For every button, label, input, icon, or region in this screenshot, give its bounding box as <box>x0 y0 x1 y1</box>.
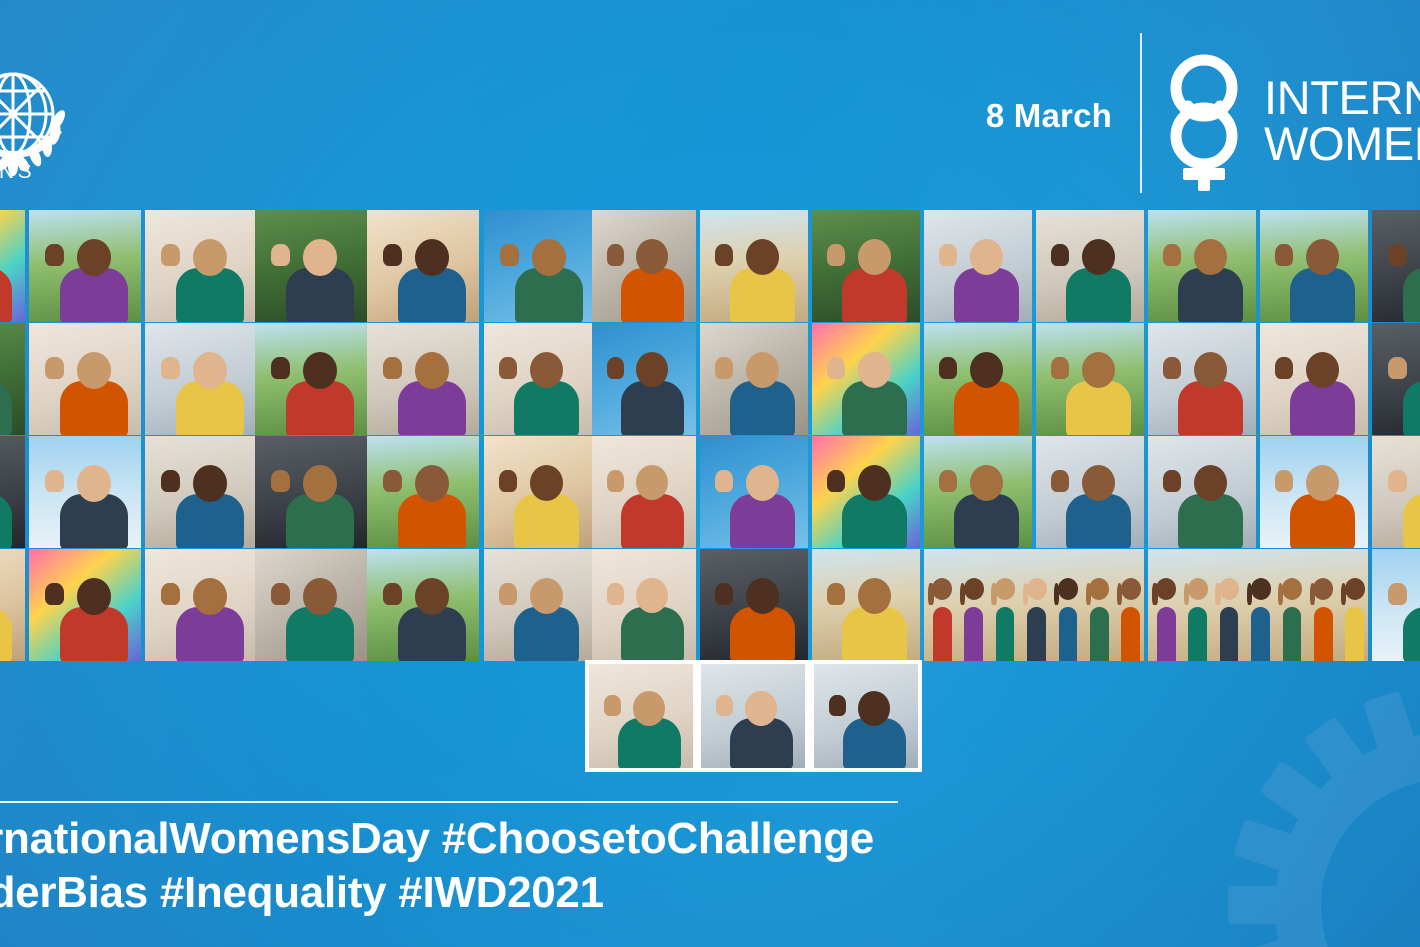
photo-image <box>1260 323 1368 435</box>
photo-un-flag-teal <box>484 210 596 322</box>
photo-image <box>812 436 920 548</box>
photo-hivis-group-small <box>812 549 920 661</box>
photo-headwrap-print <box>812 436 920 548</box>
photo-pink-top-doorway <box>29 323 141 435</box>
photo-image <box>924 210 1032 322</box>
photo-orange-top <box>1260 210 1368 322</box>
vertical-divider <box>1140 33 1142 193</box>
photo-image <box>700 210 808 322</box>
photo-smiling-interior <box>145 549 257 661</box>
photo-group-lawn <box>255 323 367 435</box>
photo-peacekeepers-plane <box>1148 549 1368 661</box>
iwd-title-line-1: INTERNATIONAL <box>1264 75 1420 121</box>
photo-green-tshirt <box>145 210 257 322</box>
photo-image <box>1036 436 1144 548</box>
photo-image <box>484 210 596 322</box>
photo-image <box>1148 436 1256 548</box>
row-2 <box>0 323 1420 436</box>
photo-image <box>1036 210 1144 322</box>
photo-image <box>1148 323 1256 435</box>
photo-image <box>700 436 808 548</box>
final-row <box>585 660 922 772</box>
photo-glasses-portrait <box>255 436 367 548</box>
photo-partial-left <box>0 323 25 435</box>
photo-khaki-lanyard <box>1036 436 1144 548</box>
photo-image <box>924 323 1032 435</box>
iwd-sunburst-watermark-icon <box>1168 648 1420 947</box>
photo-office-desk <box>924 210 1032 322</box>
photo-selfie-trees <box>1260 436 1368 548</box>
photo-curlyhair-indoor <box>367 210 479 322</box>
photo-hat-garden <box>29 210 141 322</box>
photo-striped-tee-garden <box>367 436 479 548</box>
photo-image <box>589 664 693 768</box>
photo-image <box>367 210 479 322</box>
photo-ankara-dress <box>367 323 479 435</box>
photo-yellow-lace <box>812 210 920 322</box>
photo-partial-right-3 <box>1372 436 1420 548</box>
photo-image <box>29 210 141 322</box>
photo-image <box>592 210 696 322</box>
photo-image <box>1260 210 1368 322</box>
photo-image <box>255 210 367 322</box>
photo-red-shirt-wall <box>1036 210 1144 322</box>
photo-image <box>484 323 592 435</box>
hashtag-line-1: ernationalWomensDay #ChoosetoChallenge <box>0 812 952 866</box>
photo-image <box>0 549 25 661</box>
photo-mosaic-grid <box>0 210 1420 660</box>
photo-image <box>592 436 696 548</box>
photo-mask-outdoor <box>924 323 1032 435</box>
photo-peacekeepers-heli <box>924 549 1144 661</box>
iwd-poster: ATIONS 8 March INTERNATIONAL WOMEN'S DAY <box>0 0 1420 947</box>
photo-image <box>145 436 257 548</box>
photo-red-polo-stone <box>592 210 696 322</box>
photo-print-dress-wall <box>484 549 592 661</box>
date-label: 8 March <box>986 97 1112 135</box>
photo-image <box>700 549 808 661</box>
photo-image <box>592 549 696 661</box>
photo-image <box>484 549 592 661</box>
row-1 <box>0 210 1420 323</box>
photo-couple-garden <box>924 436 1032 548</box>
photo-blazer-portrait <box>700 549 808 661</box>
photo-partial-right-1 <box>1372 210 1420 322</box>
row-3 <box>0 436 1420 549</box>
photo-purple-tshirt <box>1036 323 1144 435</box>
photo-image <box>145 549 257 661</box>
photo-image <box>812 210 920 322</box>
photo-image <box>367 323 479 435</box>
photo-mask-vehicle <box>145 323 257 435</box>
photo-image <box>0 436 25 548</box>
photo-image <box>145 210 257 322</box>
photo-image <box>0 210 25 322</box>
horizontal-rule <box>0 801 898 803</box>
hashtag-block: ernationalWomensDay #ChoosetoChallenge n… <box>0 812 952 919</box>
photo-hiker-lake <box>29 436 141 548</box>
photo-polo-outdoors <box>367 549 479 661</box>
photo-image <box>29 323 141 435</box>
photo-grey-sweater <box>1260 323 1368 435</box>
photo-un-backdrop-man <box>700 436 808 548</box>
photo-mural-denim <box>29 549 141 661</box>
iwd-title-line-2: WOMEN'S DAY <box>1264 121 1420 167</box>
photo-white-tee-wall <box>255 549 367 661</box>
photo-image <box>924 436 1032 548</box>
photo-image <box>592 323 696 435</box>
photo-fist-glasses <box>589 664 693 768</box>
photo-striped-cardigan <box>145 436 257 548</box>
photo-partial-left <box>0 549 25 661</box>
photo-black-top-door <box>592 436 696 548</box>
photo-mask-navy-polo <box>1148 436 1256 548</box>
photo-image <box>367 436 479 548</box>
un-wordmark: ATIONS <box>0 160 35 184</box>
photo-image <box>29 436 141 548</box>
photo-image <box>814 664 918 768</box>
photo-braids-colorful <box>812 323 920 435</box>
iwd-lockup: INTERNATIONAL WOMEN'S DAY <box>1158 48 1420 194</box>
photo-image <box>367 549 479 661</box>
photo-image <box>29 549 141 661</box>
photo-long-hair-indoor <box>592 549 696 661</box>
photo-hijab-stairs <box>700 323 808 435</box>
photo-image <box>812 549 920 661</box>
photo-image <box>924 549 1144 661</box>
photo-blue-shirt-door <box>484 323 592 435</box>
photo-un-emblem-backdrop <box>592 323 696 435</box>
photo-image <box>1372 549 1420 661</box>
iwd-venus-double-ring-icon <box>1158 48 1250 194</box>
photo-image <box>484 436 592 548</box>
photo-image <box>1372 210 1420 322</box>
photo-hivis-pair <box>700 210 808 322</box>
photo-image <box>1148 210 1256 322</box>
iwd-title: INTERNATIONAL WOMEN'S DAY <box>1264 75 1420 166</box>
photo-image <box>1372 323 1420 435</box>
photo-courtyard-uniform <box>1148 210 1256 322</box>
photo-image <box>1036 323 1144 435</box>
photo-partial-left <box>0 436 25 548</box>
row-4 <box>0 549 1420 662</box>
photo-tie-indoor <box>814 664 918 768</box>
photo-partial-right-4 <box>1372 549 1420 661</box>
photo-image <box>1148 549 1368 661</box>
poster-header: ATIONS 8 March INTERNATIONAL WOMEN'S DAY <box>0 0 1420 208</box>
photo-image <box>255 549 367 661</box>
photo-beige-shirt-sun <box>484 436 592 548</box>
photo-image <box>700 323 808 435</box>
photo-partial-right-2 <box>1372 323 1420 435</box>
photo-image <box>1372 436 1420 548</box>
photo-image <box>0 323 25 435</box>
photo-image <box>812 323 920 435</box>
photo-image <box>255 323 367 435</box>
photo-lanyard-teal <box>1148 323 1256 435</box>
photo-image <box>1260 436 1368 548</box>
photo-image <box>701 664 805 768</box>
photo-glasses-foliage <box>255 210 367 322</box>
hashtag-line-2: nderBias #Inequality #IWD2021 <box>0 866 952 920</box>
photo-image <box>255 436 367 548</box>
photo-suit-outdoor <box>701 664 805 768</box>
photo-image <box>145 323 257 435</box>
photo-partial-left <box>0 210 25 322</box>
